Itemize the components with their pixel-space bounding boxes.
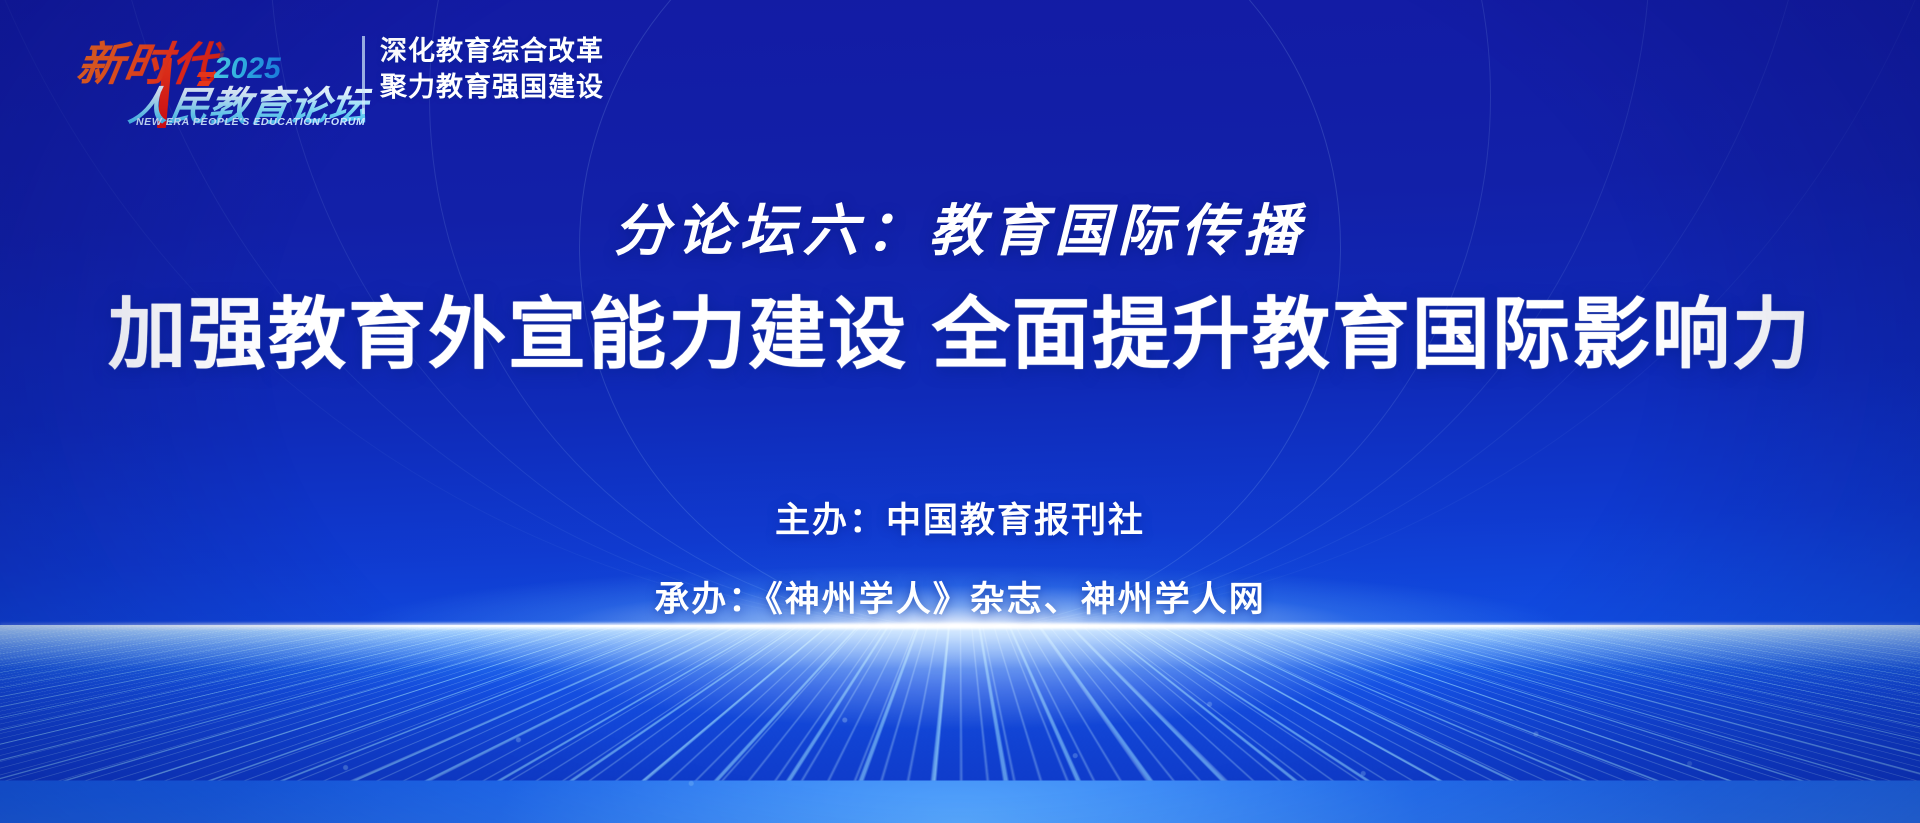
logo-english-subtitle: NEW ERA PEOPLE'S EDUCATION FORUM (136, 116, 365, 128)
logo-slogan-line-1: 深化教育综合改革 (380, 34, 604, 70)
background-perspective-floor (0, 625, 1920, 780)
co-organizer-line: 承办：《神州学人》杂志、神州学人网 (0, 571, 1920, 622)
main-headline: 加强教育外宣能力建设 全面提升教育国际影响力 (0, 272, 1920, 384)
organizer-block: 主办：中国教育报刊社 承办：《神州学人》杂志、神州学人网 (0, 492, 1920, 622)
logo-slogan: 深化教育综合改革 聚力教育强国建设 (380, 34, 604, 105)
banner-stage: 新时代 2025 人民教育论坛 NEW ERA PEOPLE'S EDUCATI… (0, 0, 1920, 823)
forum-logo: 新时代 2025 人民教育论坛 NEW ERA PEOPLE'S EDUCATI… (72, 28, 542, 133)
sub-forum-title: 分论坛六：教育国际传播 (0, 186, 1920, 267)
logo-mark: 新时代 2025 人民教育论坛 NEW ERA PEOPLE'S EDUCATI… (72, 28, 322, 128)
organizer-line: 主办：中国教育报刊社 (0, 492, 1920, 543)
logo-divider (362, 36, 365, 114)
logo-slogan-line-2: 聚力教育强国建设 (380, 70, 604, 106)
